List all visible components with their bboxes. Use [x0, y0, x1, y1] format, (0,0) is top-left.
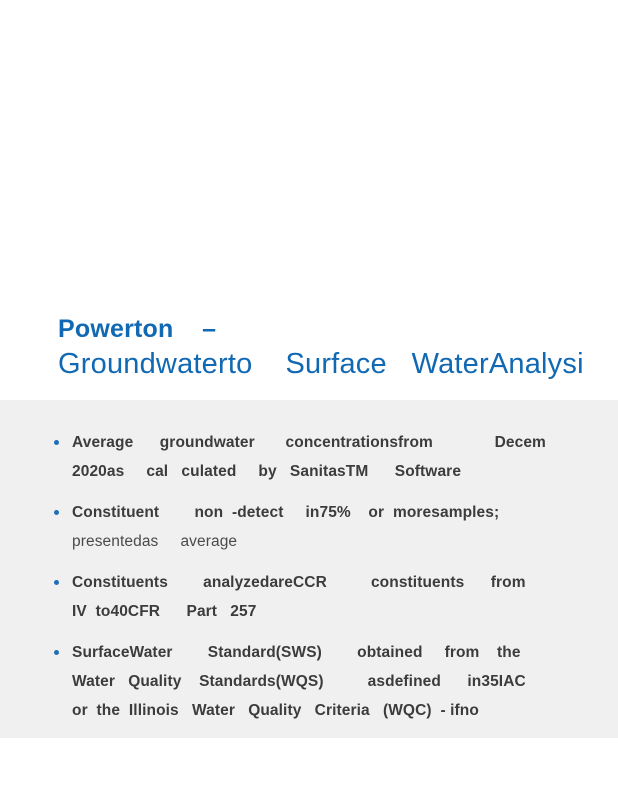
bullet-line: Constituents analyzedareCCR constituents…	[72, 568, 618, 597]
bullet-line: 2020as cal culated by SanitasTM Software	[72, 457, 618, 486]
bullet-line: or the Illinois Water Quality Criteria (…	[72, 696, 618, 725]
slide-title: Powerton – Groundwaterto Surface WaterAn…	[58, 313, 618, 382]
slide-content-panel: Average groundwater concentrationsfrom D…	[0, 400, 618, 738]
bullet-dot-icon	[54, 580, 59, 585]
bullet-line: IV to40CFR Part 257	[72, 597, 618, 626]
bullet-line: SurfaceWater Standard(SWS) obtained from…	[72, 638, 618, 667]
list-item: Constituent non -detect in75% or moresam…	[0, 498, 618, 556]
slide-title-line-1: Powerton –	[58, 313, 618, 346]
bullet-line: presentedas average	[72, 527, 618, 556]
bullet-dot-icon	[54, 650, 59, 655]
list-item: Constituents analyzedareCCR constituents…	[0, 568, 618, 626]
slide-title-line-2: Groundwaterto Surface WaterAnalysi	[58, 346, 618, 382]
list-item: Average groundwater concentrationsfrom D…	[0, 428, 618, 486]
bullet-line: Average groundwater concentrationsfrom D…	[72, 428, 618, 457]
bullet-dot-icon	[54, 440, 59, 445]
bullet-line: Water Quality Standards(WQS) asdefined i…	[72, 667, 618, 696]
slide-canvas: Powerton – Groundwaterto Surface WaterAn…	[0, 0, 618, 800]
bullet-line: Constituent non -detect in75% or moresam…	[72, 498, 618, 527]
bullet-dot-icon	[54, 510, 59, 515]
list-item: SurfaceWater Standard(SWS) obtained from…	[0, 638, 618, 725]
